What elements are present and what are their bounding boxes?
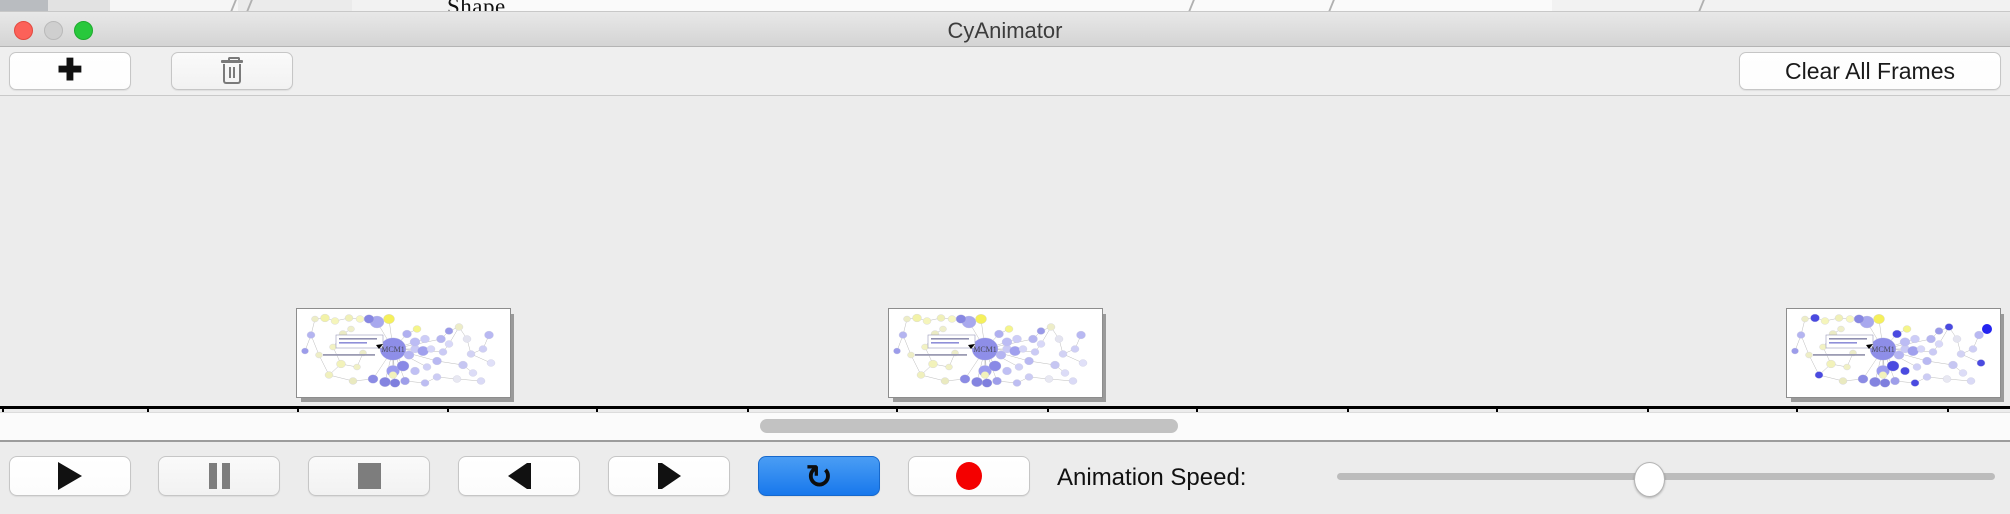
trash-icon bbox=[221, 58, 243, 84]
svg-text:MCM1: MCM1 bbox=[973, 345, 997, 354]
step-forward-button[interactable] bbox=[608, 456, 730, 496]
timeline-scrollbar[interactable] bbox=[0, 412, 2010, 442]
loop-icon: ↻ bbox=[805, 460, 833, 493]
animation-speed-label: Animation Speed: bbox=[1057, 464, 1246, 492]
timeline-panel[interactable]: MCM1MCM1MCM1 12131415161718 Seconds bbox=[0, 96, 2010, 412]
play-button[interactable] bbox=[9, 456, 131, 496]
pause-button[interactable] bbox=[158, 456, 280, 496]
add-frame-button[interactable]: ✚ bbox=[9, 52, 131, 90]
play-icon bbox=[58, 462, 82, 490]
title-bar: CyAnimator bbox=[0, 12, 2010, 47]
plus-icon: ✚ bbox=[57, 56, 82, 86]
skip-forward-icon bbox=[658, 463, 681, 489]
stop-button[interactable] bbox=[308, 456, 430, 496]
record-icon bbox=[956, 462, 982, 490]
frame-toolbar: ✚ Clear All Frames bbox=[0, 47, 2010, 96]
frame-thumbnail[interactable]: MCM1 bbox=[296, 308, 509, 396]
stop-icon bbox=[358, 463, 381, 489]
frame-thumbnail[interactable]: MCM1 bbox=[888, 308, 1101, 396]
cyanimator-window: CyAnimator ✚ Clear All Frames MCM1MCM1MC… bbox=[0, 11, 2010, 511]
frame-image: MCM1 bbox=[296, 308, 511, 398]
clear-all-frames-label: Clear All Frames bbox=[1785, 58, 1955, 85]
timeline-axis-line bbox=[0, 406, 2010, 409]
step-back-button[interactable] bbox=[458, 456, 580, 496]
pause-icon bbox=[209, 463, 230, 489]
clear-all-frames-button[interactable]: Clear All Frames bbox=[1739, 52, 2001, 90]
frame-image: MCM1 bbox=[888, 308, 1103, 398]
svg-text:MCM1: MCM1 bbox=[381, 345, 405, 354]
animation-speed-slider[interactable] bbox=[1337, 473, 1995, 480]
playback-controls: ↻ Animation Speed: bbox=[0, 442, 2010, 514]
svg-text:MCM1: MCM1 bbox=[1871, 345, 1895, 354]
loop-button[interactable]: ↻ bbox=[758, 456, 880, 496]
animation-speed-knob[interactable] bbox=[1634, 462, 1665, 497]
delete-frame-button[interactable] bbox=[171, 52, 293, 90]
skip-back-icon bbox=[508, 463, 531, 489]
window-title: CyAnimator bbox=[0, 18, 2010, 44]
frame-thumbnail[interactable]: MCM1 bbox=[1786, 308, 1999, 396]
record-button[interactable] bbox=[908, 456, 1030, 496]
scrollbar-thumb[interactable] bbox=[760, 419, 1178, 433]
frame-image: MCM1 bbox=[1786, 308, 2001, 398]
